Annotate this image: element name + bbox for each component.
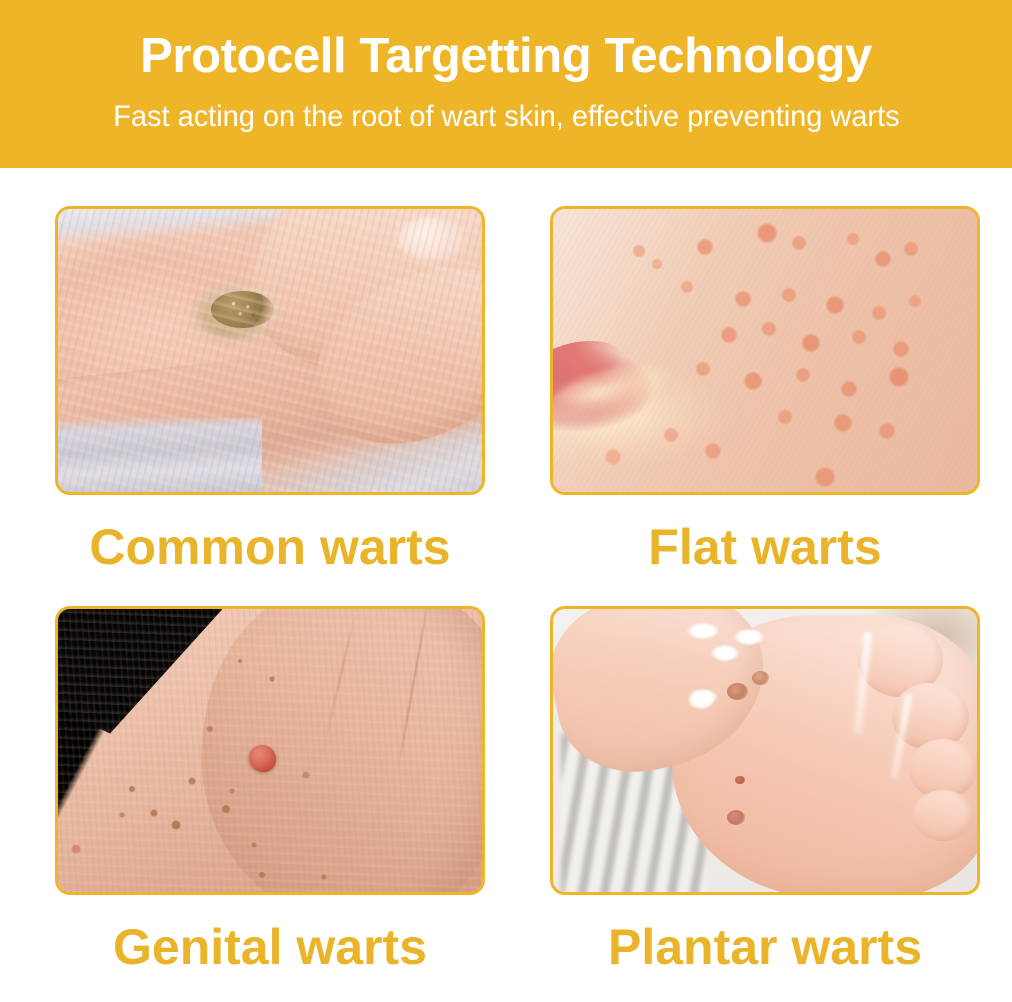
image-card-genital-warts[interactable] bbox=[55, 606, 485, 895]
page-subtitle: Fast acting on the root of wart skin, ef… bbox=[113, 100, 899, 133]
photo-flat-warts bbox=[553, 209, 977, 492]
photo-shape-finger-lower bbox=[290, 239, 482, 473]
photo-shape-fingernail bbox=[397, 217, 465, 259]
image-card-plantar-warts[interactable] bbox=[550, 606, 980, 895]
wart-type-cell-plantar-warts[interactable]: Plantar warts bbox=[517, 606, 1012, 1002]
photo-common-warts bbox=[58, 209, 482, 492]
wart-type-grid: Common warts Flat warts bbox=[0, 168, 1012, 1002]
photo-genital-warts bbox=[58, 609, 482, 892]
card-label-plantar-warts: Plantar warts bbox=[517, 922, 1012, 972]
wart-type-cell-genital-warts[interactable]: Genital warts bbox=[22, 606, 518, 1002]
photo-shape-finger-upper bbox=[213, 209, 482, 412]
page-title: Protocell Targetting Technology bbox=[140, 31, 872, 82]
card-label-flat-warts: Flat warts bbox=[517, 522, 1012, 572]
product-infographic-page: Protocell Targetting Technology Fast act… bbox=[0, 0, 1012, 1002]
photo-shape-lip bbox=[553, 334, 624, 388]
card-label-genital-warts: Genital warts bbox=[22, 922, 518, 972]
wart-type-cell-flat-warts[interactable]: Flat warts bbox=[517, 206, 1012, 606]
photo-shape-genital-wart bbox=[249, 745, 276, 772]
photo-shape-table-edge bbox=[58, 418, 262, 492]
image-card-common-warts[interactable] bbox=[55, 206, 485, 495]
photo-shape-soft-light bbox=[553, 609, 977, 892]
photo-shape-chin-highlight bbox=[553, 354, 675, 433]
header-banner: Protocell Targetting Technology Fast act… bbox=[0, 0, 1012, 168]
image-card-flat-warts[interactable] bbox=[550, 206, 980, 495]
photo-plantar-warts bbox=[553, 609, 977, 892]
photo-shape-common-wart bbox=[211, 291, 275, 328]
card-label-common-warts: Common warts bbox=[22, 522, 518, 572]
wart-type-cell-common-warts[interactable]: Common warts bbox=[22, 206, 518, 606]
